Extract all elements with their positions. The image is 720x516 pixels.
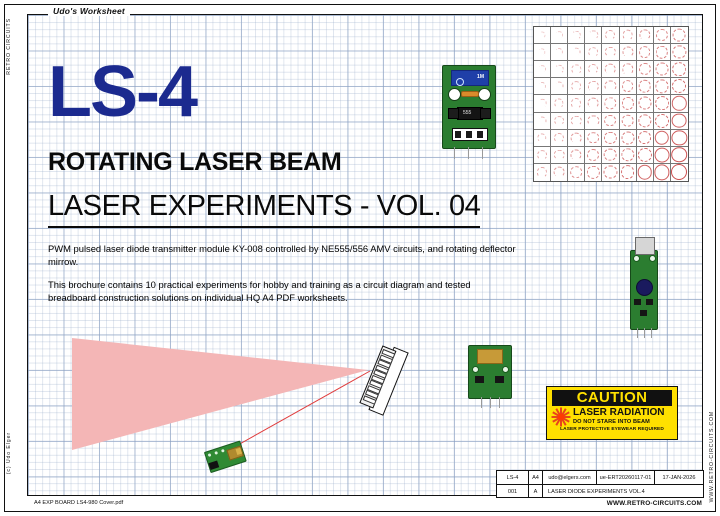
pattern-dot	[537, 150, 547, 160]
pattern-dot	[672, 130, 687, 145]
pattern-dot	[572, 65, 581, 74]
header-pin-1	[455, 131, 461, 138]
pattern-dot	[572, 31, 580, 39]
pattern-cell	[585, 61, 602, 78]
field-email: udo@elgers.com	[543, 471, 597, 484]
ky-lead-3	[499, 397, 500, 408]
pattern-cell	[620, 147, 637, 164]
pattern-cell	[602, 130, 619, 147]
pattern-cell	[551, 130, 568, 147]
pattern-dot	[605, 115, 617, 127]
pattern-cell	[534, 164, 551, 181]
pattern-dot	[673, 62, 687, 76]
pattern-cell	[585, 130, 602, 147]
pattern-cell	[534, 147, 551, 164]
pattern-dot	[672, 147, 688, 163]
pattern-dot	[554, 150, 564, 160]
pattern-cell	[637, 164, 654, 181]
pattern-cell	[654, 95, 671, 112]
caution-headline: CAUTION	[552, 390, 672, 406]
pattern-cell	[620, 61, 637, 78]
pattern-dot	[656, 29, 668, 41]
pattern-cell	[620, 27, 637, 44]
pattern-dot	[555, 82, 564, 91]
pattern-cell	[585, 27, 602, 44]
pattern-dot	[655, 114, 669, 128]
pattern-cell	[551, 27, 568, 44]
pattern-dot	[622, 64, 633, 75]
description-paragraph-1: PWM pulsed laser diode transmitter modul…	[48, 242, 516, 268]
pattern-dot	[587, 149, 599, 161]
pattern-cell	[551, 78, 568, 95]
pattern-cell	[654, 27, 671, 44]
pattern-dot	[555, 65, 564, 74]
pattern-dot	[638, 148, 652, 162]
pattern-cell	[551, 95, 568, 112]
pattern-cell	[551, 147, 568, 164]
pattern-cell	[654, 44, 671, 61]
field-drawing-number: LS-4	[497, 471, 529, 484]
pattern-dot	[655, 63, 668, 76]
pattern-cell	[585, 147, 602, 164]
pattern-cell	[551, 164, 568, 181]
header-pin-2	[466, 131, 472, 138]
module-lead-1	[454, 147, 455, 159]
module-lead-3	[482, 147, 483, 159]
pattern-cell	[671, 44, 688, 61]
pattern-dot	[605, 64, 616, 75]
ky-component-2	[495, 376, 504, 383]
pattern-cell	[534, 95, 551, 112]
pattern-cell	[551, 113, 568, 130]
title-block-row-2: 001 A LASER DIODE EXPERIMENTS VOL.4	[497, 485, 703, 498]
pattern-cell	[602, 44, 619, 61]
pattern-dot	[555, 31, 563, 39]
ne555-module-illustration	[442, 65, 496, 149]
pattern-dot	[604, 132, 616, 144]
pattern-dot	[638, 114, 651, 127]
pattern-cell	[534, 61, 551, 78]
pattern-cell	[620, 95, 637, 112]
field-document-id: ue-ERT20260117-01	[597, 471, 655, 484]
pattern-cell	[654, 113, 671, 130]
pattern-cell	[585, 164, 602, 181]
footer-filename: A4 EXP BOARD LS4-980 Cover.pdf	[34, 500, 123, 506]
header-pin-3	[477, 131, 483, 138]
description-paragraph-2: This brochure contains 10 practical expe…	[48, 278, 516, 304]
laser-burst-icon	[551, 407, 570, 426]
volume-heading: LASER EXPERIMENTS - VOL. 04	[48, 190, 480, 228]
trimmer-screw-icon	[456, 78, 464, 86]
pattern-cell	[620, 44, 637, 61]
pattern-dot	[606, 30, 616, 40]
large-capacitor	[636, 279, 653, 296]
pattern-dot	[621, 131, 634, 144]
pin-header	[452, 128, 488, 141]
field-paper-format: A4	[529, 471, 543, 484]
pattern-cell	[534, 44, 551, 61]
pattern-dot	[538, 65, 546, 73]
laser-caution-label: CAUTION LASER RADIATION DO NOT STARE INT…	[546, 386, 678, 440]
ky-lead-2	[490, 397, 491, 408]
pattern-cell	[671, 147, 688, 164]
pattern-cell	[602, 95, 619, 112]
pattern-cell	[585, 113, 602, 130]
pattern-cell	[534, 27, 551, 44]
pattern-cell	[654, 78, 671, 95]
pattern-cell	[671, 113, 688, 130]
pattern-dot	[673, 29, 686, 42]
pattern-cell	[654, 164, 671, 181]
pattern-dot	[555, 99, 564, 108]
metal-can-component	[635, 237, 655, 255]
pattern-dot	[588, 98, 599, 109]
pattern-dot	[639, 63, 651, 75]
pattern-cell	[602, 27, 619, 44]
pattern-dot	[673, 46, 686, 59]
pattern-cell	[585, 44, 602, 61]
pattern-cell	[551, 61, 568, 78]
pattern-dot	[588, 64, 598, 74]
left-label-retro-circuits: RETRO CIRCUITS	[6, 18, 12, 75]
pattern-cell	[654, 61, 671, 78]
mount-hole-1	[633, 255, 640, 262]
tab-rule-left	[29, 14, 47, 15]
pattern-dot	[654, 165, 669, 180]
pattern-cell	[620, 130, 637, 147]
pattern-dot	[605, 47, 615, 57]
pattern-cell	[671, 164, 688, 181]
pattern-dot	[589, 30, 598, 39]
pattern-cell	[568, 61, 585, 78]
pattern-cell	[585, 95, 602, 112]
pattern-dot	[604, 166, 617, 179]
pattern-dot	[572, 48, 581, 57]
field-document-title: LASER DIODE EXPERIMENTS VOL.4	[543, 485, 703, 498]
pattern-cell	[620, 113, 637, 130]
pattern-dot	[538, 99, 547, 108]
pattern-dot	[656, 46, 669, 59]
pattern-cell	[602, 164, 619, 181]
ky-lead-1	[481, 397, 482, 408]
pattern-cell	[568, 44, 585, 61]
pattern-dot	[621, 148, 634, 161]
pattern-cell	[637, 113, 654, 130]
pattern-cell	[602, 78, 619, 95]
pattern-dot	[588, 132, 600, 144]
page-subtitle: ROTATING LASER BEAM	[48, 148, 341, 177]
field-date: 17-JAN-2026	[655, 471, 703, 484]
pattern-dot	[621, 114, 634, 127]
capacitor-c2	[478, 88, 491, 101]
pattern-cell	[671, 130, 688, 147]
pattern-cell	[637, 27, 654, 44]
pattern-dot	[571, 82, 581, 92]
component-left	[448, 108, 459, 119]
pattern-cell	[637, 147, 654, 164]
pattern-cell	[568, 78, 585, 95]
pattern-dot	[655, 130, 669, 144]
pattern-dot	[672, 79, 686, 93]
pattern-dot	[622, 80, 634, 92]
pattern-cell	[534, 130, 551, 147]
pattern-cell	[671, 78, 688, 95]
pattern-cell	[602, 61, 619, 78]
ky008-module-illustration	[468, 345, 512, 399]
pattern-dot	[638, 80, 651, 93]
title-block-row-1: LS-4 A4 udo@elgers.com ue-ERT20260117-01…	[497, 471, 703, 485]
footer-website: WWW.RETRO-CIRCUITS.COM	[496, 500, 702, 507]
pattern-dot	[571, 149, 582, 160]
pattern-dot	[537, 133, 546, 142]
pattern-dot	[587, 166, 599, 178]
pattern-cell	[568, 130, 585, 147]
worksheet-page: RETRO CIRCUITS (c) Udo Elger WWW.RETRO-C…	[0, 0, 720, 516]
pattern-dot	[571, 98, 581, 108]
pattern-cell	[568, 164, 585, 181]
page-title-code: LS-4	[48, 56, 196, 128]
pattern-dot	[571, 115, 581, 125]
pattern-dot	[655, 80, 668, 93]
pattern-cell	[671, 95, 688, 112]
pattern-dot	[621, 97, 633, 109]
pattern-cell	[534, 113, 551, 130]
pattern-dot	[589, 47, 599, 57]
right-label-website: WWW.RETRO-CIRCUITS.COM	[709, 411, 715, 502]
pattern-dot	[537, 167, 547, 177]
pattern-dot	[637, 165, 652, 180]
pattern-dot	[605, 81, 616, 92]
pattern-dot	[605, 98, 617, 110]
component-right	[480, 108, 491, 119]
module-lead-2	[468, 147, 469, 159]
pattern-cell	[620, 164, 637, 181]
pattern-cell	[568, 95, 585, 112]
pattern-cell	[671, 61, 688, 78]
pattern-cell	[637, 78, 654, 95]
tab-rule-right	[118, 14, 703, 15]
ky-mount-hole-1	[472, 366, 479, 373]
pattern-cell	[568, 113, 585, 130]
pattern-dot	[588, 115, 599, 126]
pattern-dot	[672, 113, 687, 128]
pattern-cell	[637, 95, 654, 112]
pattern-cell	[654, 130, 671, 147]
pattern-dot	[654, 147, 669, 162]
pattern-dot	[570, 167, 582, 179]
worksheet-tab-label: Udo's Worksheet	[48, 6, 130, 16]
smd-part-2	[646, 299, 653, 305]
pattern-cell	[568, 27, 585, 44]
laser-pattern-panel	[533, 26, 689, 182]
smd-part-1	[634, 299, 641, 305]
pattern-dot	[638, 131, 652, 145]
resistor-r1	[461, 91, 479, 97]
pattern-cell	[637, 61, 654, 78]
pattern-dot	[621, 166, 635, 180]
pattern-dot	[554, 116, 564, 126]
right-module-lead-3	[651, 328, 652, 338]
pattern-cell	[568, 147, 585, 164]
pattern-cell	[620, 78, 637, 95]
pattern-dot	[555, 48, 563, 56]
pattern-cell	[602, 113, 619, 130]
pattern-cell	[637, 44, 654, 61]
ky-component-1	[475, 376, 484, 383]
laser-diode-head	[477, 349, 503, 364]
right-module-lead-2	[644, 328, 645, 338]
pattern-cell	[671, 27, 688, 44]
right-module-illustration	[630, 250, 658, 330]
pattern-cell	[534, 78, 551, 95]
right-module-lead-1	[637, 328, 638, 338]
caution-line-2: LASER RADIATION	[573, 407, 673, 418]
caution-line-4: LASER PROTECTIVE EYEWEAR REQUIRED	[549, 426, 675, 433]
trimmer-potentiometer	[451, 70, 489, 86]
pattern-dot	[554, 133, 564, 143]
pattern-dot	[672, 96, 686, 110]
pattern-dot	[538, 48, 545, 55]
pattern-dot	[671, 164, 687, 180]
pattern-dot	[554, 167, 565, 178]
pattern-dot	[639, 29, 650, 40]
title-block: LS-4 A4 udo@elgers.com ue-ERT20260117-01…	[496, 470, 704, 498]
pattern-cell	[602, 147, 619, 164]
pattern-cell	[551, 44, 568, 61]
capacitor-c1	[448, 88, 461, 101]
ky-mount-hole-2	[502, 366, 509, 373]
caution-line-3: DO NOT STARE INTO BEAM	[573, 418, 673, 426]
pattern-dot	[638, 97, 651, 110]
left-label-copyright: (c) Udo Elger	[6, 432, 12, 474]
pattern-dot	[639, 46, 651, 58]
pattern-cell	[654, 147, 671, 164]
pattern-dot	[538, 82, 546, 90]
pattern-dot	[538, 116, 547, 125]
pattern-dot	[539, 32, 546, 39]
pattern-cell	[637, 130, 654, 147]
mount-hole-2	[649, 255, 656, 262]
pattern-dot	[604, 148, 617, 161]
field-revision: A	[529, 485, 543, 498]
smd-part-3	[640, 310, 647, 316]
pattern-dot	[622, 30, 633, 41]
pattern-dot	[622, 47, 633, 58]
field-sheet-number: 001	[497, 485, 529, 498]
pattern-dot	[571, 132, 582, 143]
pattern-dot	[588, 81, 598, 91]
pattern-dot	[655, 97, 669, 111]
pattern-cell	[585, 78, 602, 95]
